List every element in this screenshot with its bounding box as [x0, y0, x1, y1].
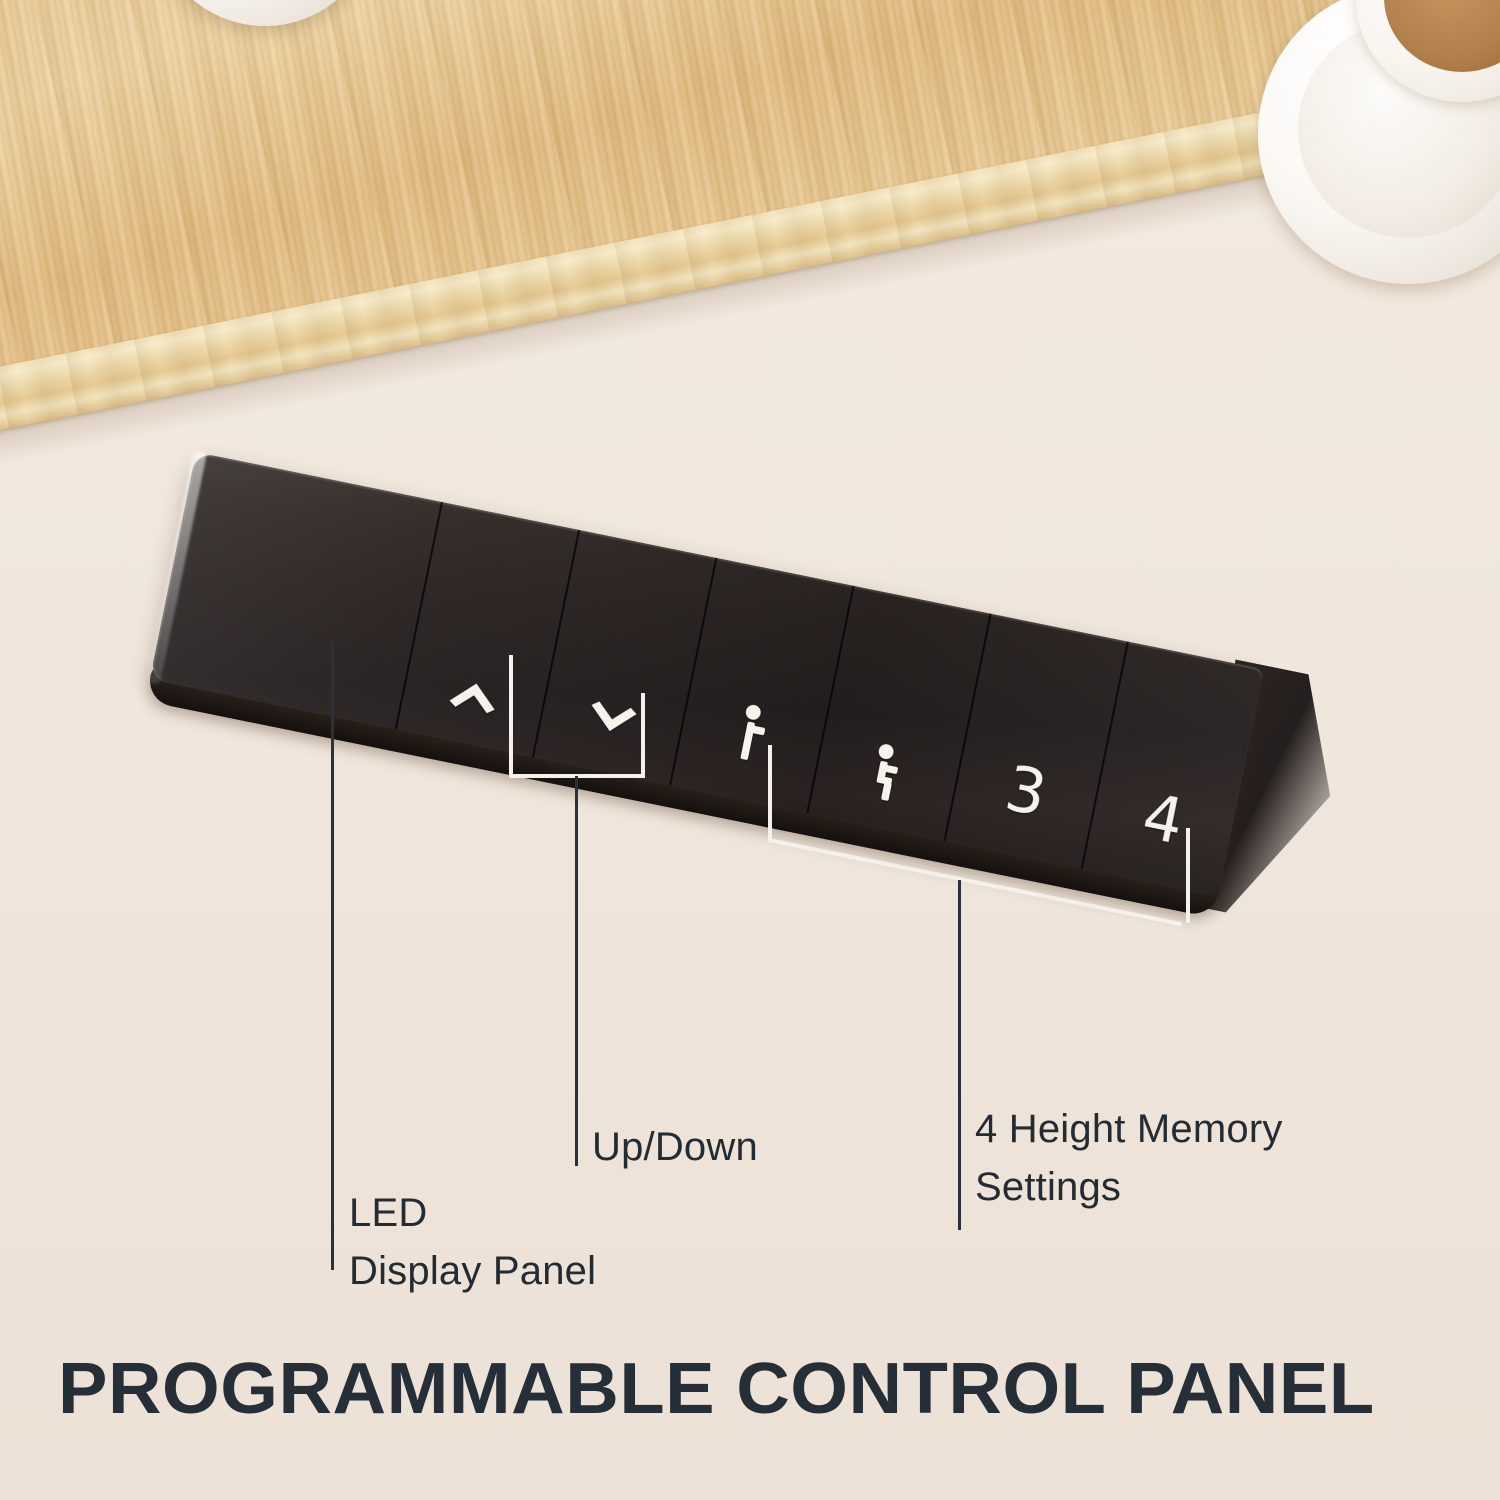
memory-preset-3-label: 3 — [1001, 757, 1052, 826]
callout-led-line1: LED — [349, 1184, 596, 1242]
leader-line-led — [331, 640, 334, 1270]
callout-memory-line1: 4 Height Memory — [975, 1100, 1283, 1158]
leader-line-memory — [958, 880, 961, 1230]
coffee-liquid — [1384, 0, 1500, 72]
chevron-up-icon — [445, 671, 505, 715]
leader-bracket-updown-up-stem — [509, 655, 513, 778]
memory-preset-4-label: 4 — [1138, 785, 1189, 854]
leader-line-updown — [575, 776, 578, 1166]
leader-bracket-updown-down-stem — [641, 693, 645, 778]
callout-updown-line1: Up/Down — [592, 1118, 758, 1176]
leader-bracket-memory-right-stem — [1186, 828, 1190, 923]
product-feature-image: 3 4 LED Display Panel Up/Down 4 Height M… — [0, 0, 1500, 1500]
leader-bracket-memory-left-stem — [768, 745, 772, 842]
page-headline: PROGRAMMABLE CONTROL PANEL — [58, 1348, 1375, 1430]
callout-led-line2: Display Panel — [349, 1242, 596, 1300]
chevron-down-icon — [582, 699, 642, 743]
callout-updown: Up/Down — [592, 1118, 758, 1176]
callout-memory-line2: Settings — [975, 1158, 1283, 1216]
callout-led: LED Display Panel — [349, 1184, 596, 1300]
sitting-person-icon — [864, 741, 910, 809]
callout-memory: 4 Height Memory Settings — [975, 1100, 1283, 1216]
